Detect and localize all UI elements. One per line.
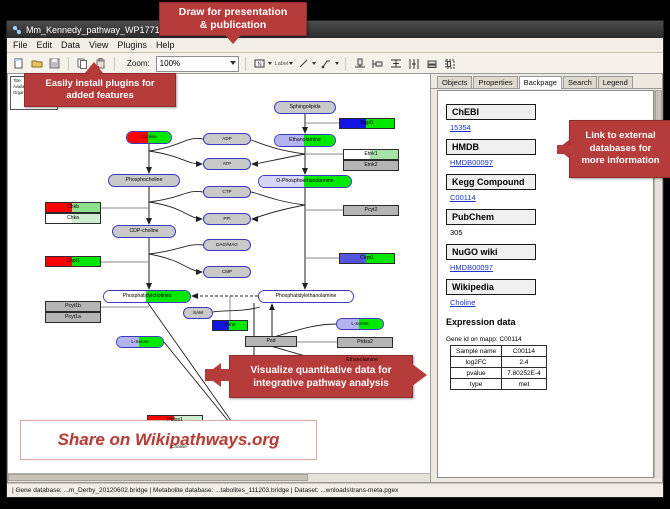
backpage-heading-nugo-wiki: NuGO wiki (446, 244, 536, 260)
node-half-left (259, 176, 306, 187)
metabolite-node-phosphatidylethanolamine[interactable]: Phosphatidylethanolamine (258, 290, 354, 303)
node-label: Phosphocholine (126, 178, 163, 183)
metabolite-node-ppi[interactable]: PPi (203, 213, 251, 225)
chevron-down-icon[interactable] (289, 62, 293, 65)
node-half-left (46, 302, 74, 311)
node-half-left (338, 338, 366, 347)
line-tool[interactable] (296, 56, 316, 71)
toolbar-separator (245, 57, 246, 71)
node-half-right (72, 203, 100, 212)
node-label: Sphingolipids (290, 105, 321, 110)
metabolite-node-cdp-choline[interactable]: CDP-choline (112, 225, 176, 238)
metabolite-node-phosphocholine[interactable]: Phosphocholine (108, 174, 180, 187)
node-half-left (344, 161, 372, 170)
callout-visualize-stem (205, 369, 231, 381)
callout-visualize-pointer-right (411, 363, 427, 387)
svg-text:N: N (257, 62, 261, 68)
tab-search[interactable]: Search (563, 76, 597, 89)
menu-bar: File Edit Data View Plugins Help (7, 38, 663, 53)
metabolite-node-dagmag[interactable]: DAG/MAG (203, 239, 251, 251)
share-banner: Share on Wikipathways.org (20, 420, 317, 460)
stack-icon[interactable] (424, 56, 439, 71)
gene-node-chkb[interactable]: Chkb (45, 202, 101, 213)
zoom-value: 100% (160, 59, 180, 68)
expression-row-value: met (502, 379, 547, 390)
gene-node-pemt[interactable]: Pemt (212, 320, 248, 331)
node-half-left (259, 291, 307, 302)
title-bar: Mm_Kennedy_pathway_WP1771_45176.gpml (7, 21, 663, 38)
callout-links-stem (557, 145, 570, 154)
gene-node-psd[interactable]: Psd (245, 336, 297, 347)
toolbar-separator (345, 57, 346, 71)
node-label: SAM (193, 311, 203, 316)
align-left-icon[interactable] (370, 56, 385, 71)
save-icon[interactable] (47, 56, 62, 71)
node-half-right (305, 291, 353, 302)
metabolite-node-adp[interactable]: ADP (203, 133, 251, 145)
datanode-icon[interactable]: N (252, 56, 267, 71)
expression-row-label: type (451, 379, 502, 390)
expression-data-title: Expression data (446, 317, 645, 327)
node-half-right (148, 132, 171, 143)
expression-table: Sample nameC00114log2FC2.4pvalue7.80252E… (450, 345, 547, 390)
toolbar-separator (68, 57, 69, 71)
gene-node-pcyt2[interactable]: Pcyt2 (343, 205, 399, 216)
metabolite-node-ethanolamine1[interactable]: Ethanolamine (274, 134, 336, 147)
gene-node-etnk1[interactable]: Etnk1 (343, 149, 399, 160)
gene-node-chpt1-left[interactable]: Chpt1 (45, 256, 101, 267)
distribute-vertical-icon[interactable] (388, 56, 403, 71)
backpage-heading-kegg-compound: Kegg Compound (446, 174, 536, 190)
expression-row-label: log2FC (451, 357, 502, 368)
backpage-link-kegg-compound[interactable]: C00114 (450, 193, 645, 202)
node-half-right (304, 135, 335, 146)
backpage-heading-hmdb: HMDB (446, 139, 536, 155)
backpage-link-nugo-wiki[interactable]: HMDB00097 (450, 263, 645, 272)
expression-row-label: Sample name (451, 346, 502, 357)
node-half-left (104, 291, 148, 302)
metabolite-node-choline-top[interactable]: Choline (126, 131, 172, 144)
backpage-value-pubchem: 305 (450, 228, 645, 237)
node-half-left (275, 135, 306, 146)
node-label: CDP-choline (129, 229, 158, 234)
metabolite-node-sphingolipids[interactable]: Sphingolipids (274, 101, 336, 114)
callout-draw: Draw for presentation& publication (159, 2, 307, 36)
metabolite-node-phosphatidylcholines[interactable]: Phosphatidylcholines (103, 290, 191, 303)
menu-item-plugins[interactable]: Plugins (117, 40, 147, 50)
node-half-right (229, 321, 247, 330)
anchor-icon[interactable] (319, 56, 334, 71)
node-half-left (46, 203, 74, 212)
label-tool[interactable]: Label (275, 61, 293, 67)
share-banner-text: Share on Wikipathways.org (58, 430, 280, 450)
chevron-down-icon[interactable] (268, 62, 272, 65)
node-half-left (117, 337, 141, 347)
visualization-combo[interactable]: visualization (434, 73, 517, 74)
toolbar-separator (114, 57, 115, 71)
metabolite-node-ctp[interactable]: CTP (203, 186, 251, 198)
node-half-left (344, 150, 372, 159)
chevron-down-icon (230, 61, 236, 65)
metabolite-node-cmp[interactable]: CMP (203, 266, 251, 278)
toolbar: Zoom: 100% N Label (7, 53, 663, 75)
node-half-left (46, 214, 74, 223)
node-half-left (337, 319, 361, 329)
expression-row-value: C00114 (502, 346, 547, 357)
expression-row-value: 7.80252E-4 (502, 368, 547, 379)
canvas-hscrollbar-thumb[interactable] (8, 474, 308, 481)
node-half-right (364, 338, 392, 347)
metabolite-node-sam[interactable]: SAM (183, 307, 213, 319)
backpage-heading-pubchem: PubChem (446, 209, 536, 225)
open-folder-icon[interactable] (29, 56, 44, 71)
node-label: ATP (223, 162, 232, 167)
node-half-left (344, 206, 372, 215)
node-label: DAG/MAG (216, 243, 238, 248)
backpage-link-wikipedia[interactable]: Choline (450, 298, 645, 307)
metabolite-node-l-serine-right[interactable]: L-Serine (336, 318, 384, 330)
tab-objects[interactable]: Objects (437, 76, 472, 89)
canvas-hscrollbar[interactable] (8, 473, 430, 482)
screenshot-root: Mm_Kennedy_pathway_WP1771_45176.gpml Fil… (0, 0, 670, 509)
node-half-left (46, 313, 74, 322)
node-half-right (72, 257, 100, 266)
gene-node-etnk2[interactable]: Etnk2 (343, 160, 399, 171)
node-half-right (370, 206, 398, 215)
zoom-label: Zoom: (127, 59, 150, 68)
expression-row-value: 2.4 (502, 357, 547, 368)
gene-node-cept1[interactable]: Cept1 (339, 253, 395, 264)
metabolite-node-l-serine-left[interactable]: L-Serine (116, 336, 164, 348)
node-half-right (270, 337, 296, 346)
new-file-icon[interactable] (11, 56, 26, 71)
align-bottom-icon[interactable] (352, 56, 367, 71)
menu-item-view[interactable]: View (89, 40, 108, 50)
node-half-left (127, 132, 150, 143)
node-half-right (366, 119, 394, 128)
node-half-left (46, 257, 74, 266)
node-label: CMP (222, 270, 232, 275)
node-half-right (370, 161, 398, 170)
metabolite-node-atp[interactable]: ATP (203, 158, 251, 170)
expression-row-label: pvalue (451, 368, 502, 379)
app-icon (12, 25, 22, 35)
tab-backpage[interactable]: Backpage (519, 76, 562, 90)
chevron-down-icon[interactable] (335, 62, 339, 65)
tab-properties[interactable]: Properties (473, 76, 517, 89)
anchor-tool[interactable] (319, 56, 339, 71)
menu-item-data[interactable]: Data (61, 40, 80, 50)
metabolite-node-o-phosphoethanolamine[interactable]: O-Phosphoethanolamine (258, 175, 352, 188)
callout-links: Link to externaldatabases formore inform… (569, 120, 670, 178)
gene-node-chka[interactable]: Chka (45, 213, 101, 224)
zoom-combo[interactable]: 100% (156, 56, 239, 72)
menu-item-file[interactable]: File (13, 40, 28, 50)
table-row: log2FC2.4 (451, 357, 547, 368)
tab-legend[interactable]: Legend (598, 76, 633, 89)
node-half-left (246, 337, 272, 346)
callout-draw-pointer (224, 34, 242, 44)
table-row: Sample nameC00114 (451, 346, 547, 357)
chevron-down-icon[interactable] (312, 62, 316, 65)
node-half-right (139, 337, 163, 347)
distribute-horizontal-icon[interactable] (406, 56, 421, 71)
status-bar-text: | Gene database: ...m_Derby_20120602.bri… (12, 487, 398, 494)
node-label: ADP (222, 137, 231, 142)
node-half-right (370, 150, 398, 159)
callout-visualize: Visualize quantitative data forintegrati… (229, 355, 413, 398)
node-label: CTP (222, 190, 231, 195)
node-label: PPi (223, 217, 230, 222)
gene-node-pcyt1b[interactable]: Pcyt1b (45, 301, 101, 312)
gene-node-pcyt1a[interactable]: Pcyt1a (45, 312, 101, 323)
node-half-right (359, 319, 383, 329)
table-row: pvalue7.80252E-4 (451, 368, 547, 379)
status-bar: | Gene database: ...m_Derby_20120602.bri… (7, 483, 663, 497)
backpage-heading-wikipedia: Wikipedia (446, 279, 536, 295)
gene-node-sgpl1[interactable]: Sgpl1 (339, 118, 395, 129)
side-panel-tabs: Objects Properties Backpage Search Legen… (431, 74, 662, 89)
label-tool-text: Label (275, 61, 288, 67)
table-row: typemet (451, 379, 547, 390)
node-half-right (366, 254, 394, 263)
node-half-right (72, 313, 100, 322)
callout-plugins: Easily install plugins foradded features (24, 73, 176, 107)
callout-plugins-stem (90, 66, 99, 74)
menu-item-edit[interactable]: Edit (37, 40, 53, 50)
node-half-left (340, 119, 368, 128)
node-half-right (304, 176, 351, 187)
node-half-right (146, 291, 190, 302)
gene-id-line: Gene id on mapp: C00114 (446, 336, 645, 343)
group-icon[interactable] (442, 56, 457, 71)
line-icon[interactable] (296, 56, 311, 71)
node-half-left (340, 254, 368, 263)
backpage-heading-chebi: ChEBI (446, 104, 536, 120)
gene-node-ptdss2[interactable]: Ptdss2 (337, 337, 393, 348)
node-half-right (72, 302, 100, 311)
datanode-tool[interactable]: N (252, 56, 272, 71)
menu-item-help[interactable]: Help (156, 40, 175, 50)
node-half-right (72, 214, 100, 223)
